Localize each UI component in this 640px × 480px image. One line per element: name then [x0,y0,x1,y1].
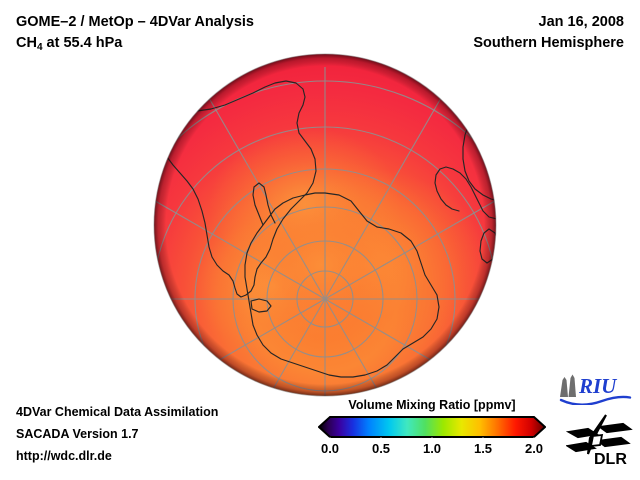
globe-limb-shading [154,54,496,396]
colorbar-tick-label: 1.5 [474,441,492,456]
colorbar-body [319,417,545,437]
website-url[interactable]: http://wdc.dlr.de [16,445,218,467]
colorbar-tick-labels: 0.00.51.01.52.0 [318,441,546,459]
riu-logo: RIU [558,373,632,410]
coastline-australia [471,339,497,361]
colorbar-tick-label: 0.0 [321,441,339,456]
globe-svg [153,53,497,397]
version-label: SACADA Version 1.7 [16,423,218,445]
riu-wave-icon [561,397,630,405]
instrument-title: GOME–2 / MetOp – 4DVar Analysis [16,12,254,33]
globe-map [153,53,497,397]
species-level-label: CH4 at 55.4 hPa [16,33,254,55]
colorbar-tick-label: 2.0 [525,441,543,456]
dlr-logo-svg: DLR [566,414,634,468]
dlr-emblem-icon [568,415,630,454]
region-label: Southern Hemisphere [473,33,624,54]
header-left-block: GOME–2 / MetOp – 4DVar Analysis CH4 at 5… [16,12,254,55]
riu-logo-svg: RIU [558,373,632,405]
dlr-logo: DLR [566,414,634,473]
colorbar-tick-label: 1.0 [423,441,441,456]
pressure-level: at 55.4 hPa [43,35,123,51]
header-right-block: Jan 16, 2008 Southern Hemisphere [473,12,624,54]
colorbar: Volume Mixing Ratio [ppmv] 0.00.51.01.52… [318,398,546,459]
date-label: Jan 16, 2008 [473,12,624,33]
riu-towers-icon [560,375,576,398]
species-subscript: 4 [37,42,43,53]
colorbar-title: Volume Mixing Ratio [ppmv] [318,398,546,412]
colorbar-svg [318,416,546,438]
colorbar-bar [318,416,546,438]
colorbar-tick-label: 0.5 [372,441,390,456]
coastline-new-zealand [409,383,419,397]
assimilation-label: 4DVar Chemical Data Assimilation [16,401,218,423]
riu-wordmark: RIU [578,374,618,398]
footer-left-block: 4DVar Chemical Data Assimilation SACADA … [16,401,218,467]
species-name: CH [16,35,37,51]
dlr-wordmark: DLR [594,451,627,468]
